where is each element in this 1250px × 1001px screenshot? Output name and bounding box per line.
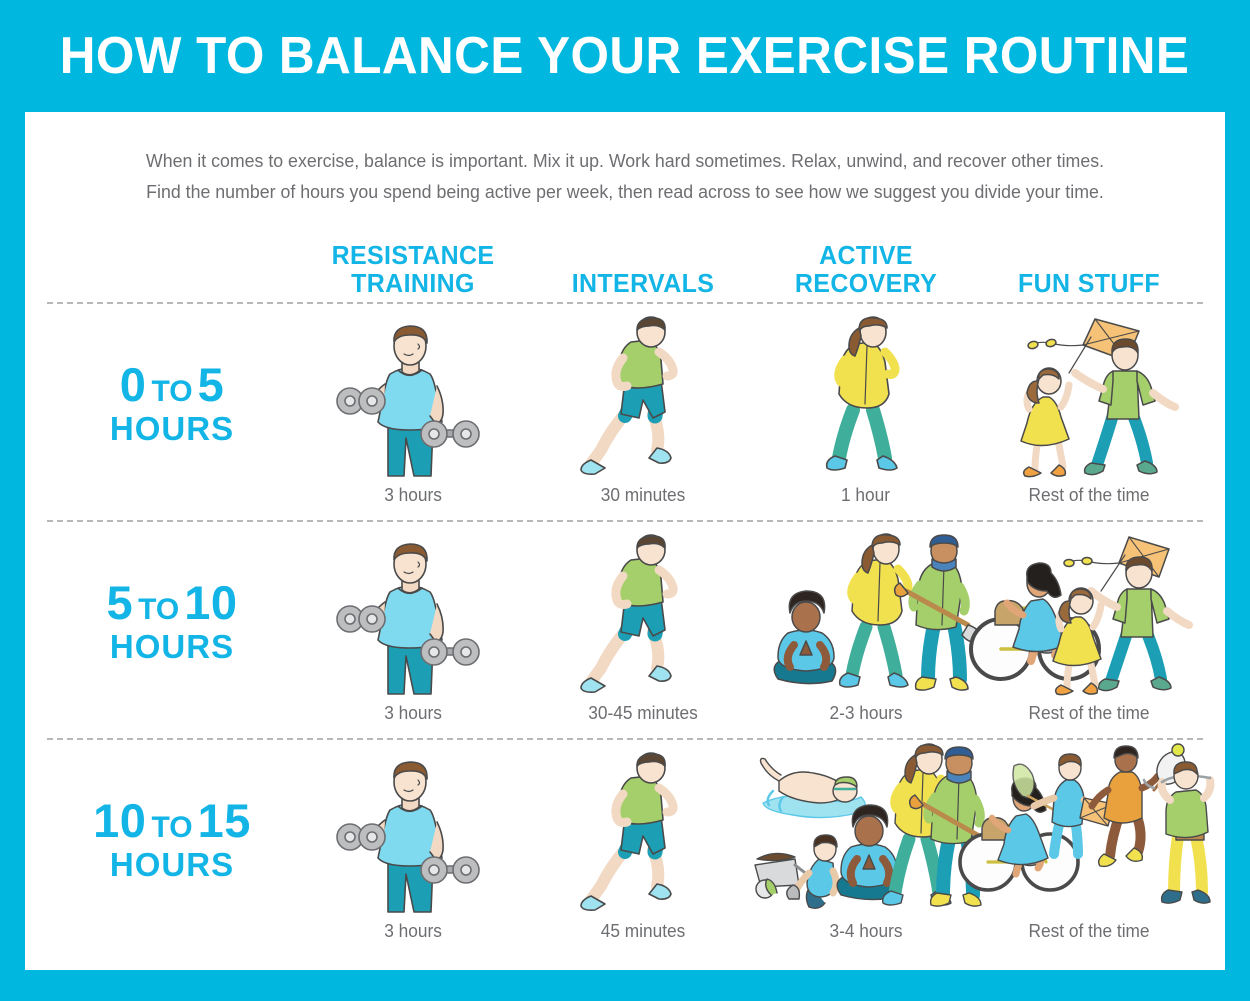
- range-start: 0: [120, 358, 147, 411]
- row-label-10-to-15-hours: 10to15 HOURS: [47, 740, 297, 956]
- intro-line-2: Find the number of hours you spend being…: [99, 177, 1151, 208]
- cell-caption: 3-4 hours: [829, 921, 902, 956]
- row-label-0-to-5-hours: 0to5 HOURS: [47, 304, 297, 520]
- row-label-range: 0to5: [120, 360, 224, 411]
- row-label-range: 10to15: [93, 796, 251, 847]
- routine-table: RESISTANCE TRAINING INTERVALS ACTIVE REC…: [47, 230, 1203, 956]
- column-header-line-1: ACTIVE: [761, 242, 970, 270]
- cell-fun-stuff-row-2: Rest of the time: [975, 522, 1203, 738]
- cell-caption: 45 minutes: [601, 921, 686, 956]
- cell-caption: 30-45 minutes: [588, 703, 698, 738]
- cell-resistance-row-2: 3 hours: [297, 522, 529, 738]
- range-end: 10: [184, 576, 237, 629]
- illustration-runner: [529, 740, 757, 921]
- illustration-cycling-kite-net-tennis-golf: [975, 740, 1203, 921]
- illustration-man-dumbbell-curls: [297, 304, 529, 485]
- illustration-cycling-kite-flying: [975, 522, 1203, 703]
- table-row: 10to15 HOURS: [47, 740, 1203, 956]
- column-header-line-1: RESISTANCE: [302, 242, 525, 270]
- illustration-swimming-gardening-meditation-walking-shoveling: [757, 740, 975, 921]
- range-end: 15: [198, 794, 251, 847]
- cell-caption: 3 hours: [384, 703, 442, 738]
- cell-active-recovery-row-2: 2-3 hours: [757, 522, 975, 738]
- range-joiner: to: [133, 593, 184, 626]
- cell-fun-stuff-row-1: Rest of the time: [975, 304, 1203, 520]
- column-header-line-2: TRAINING: [302, 270, 525, 298]
- row-label-unit: HOURS: [110, 410, 234, 448]
- cell-caption: 30 minutes: [601, 485, 686, 520]
- illustration-kite-flying-man-and-girl: [975, 304, 1203, 485]
- illustration-man-dumbbell-curls: [297, 740, 529, 921]
- column-header-intervals: INTERVALS: [534, 270, 753, 298]
- cell-caption: 1 hour: [841, 485, 890, 520]
- cell-caption: Rest of the time: [1028, 703, 1149, 738]
- intro-line-1: When it comes to exercise, balance is im…: [99, 146, 1151, 177]
- range-start: 10: [93, 794, 146, 847]
- cell-intervals-row-1: 30 minutes: [529, 304, 757, 520]
- cell-caption: 3 hours: [384, 485, 442, 520]
- column-header-active-recovery: ACTIVE RECOVERY: [761, 242, 970, 298]
- infographic-poster: HOW TO BALANCE YOUR EXERCISE ROUTINE Whe…: [0, 0, 1250, 1001]
- cell-intervals-row-2: 30-45 minutes: [529, 522, 757, 738]
- column-header-resistance-training: RESISTANCE TRAINING: [302, 242, 525, 298]
- cell-caption: Rest of the time: [1028, 485, 1149, 520]
- column-header-line-1: INTERVALS: [534, 270, 753, 298]
- row-label-unit: HOURS: [110, 846, 234, 884]
- illustration-woman-walking: [757, 304, 975, 485]
- content-card: When it comes to exercise, balance is im…: [25, 112, 1225, 970]
- cell-intervals-row-3: 45 minutes: [529, 740, 757, 956]
- illustration-man-dumbbell-curls: [297, 522, 529, 703]
- column-header-fun-stuff: FUN STUFF: [980, 270, 1199, 298]
- cell-active-recovery-row-1: 1 hour: [757, 304, 975, 520]
- cell-caption: 3 hours: [384, 921, 442, 956]
- cell-fun-stuff-row-3: Rest of the time: [975, 740, 1203, 956]
- page-title: HOW TO BALANCE YOUR EXERCISE ROUTINE: [60, 26, 1190, 86]
- title-bar: HOW TO BALANCE YOUR EXERCISE ROUTINE: [0, 0, 1250, 112]
- table-row: 0to5 HOURS: [47, 304, 1203, 520]
- cell-resistance-row-1: 3 hours: [297, 304, 529, 520]
- illustration-meditation-walking-shoveling: [757, 522, 975, 703]
- cell-caption: 2-3 hours: [829, 703, 902, 738]
- row-label-5-to-10-hours: 5to10 HOURS: [47, 522, 297, 738]
- range-joiner: to: [146, 375, 197, 408]
- cell-resistance-row-3: 3 hours: [297, 740, 529, 956]
- cell-active-recovery-row-3: 3-4 hours: [757, 740, 975, 956]
- range-end: 5: [198, 358, 225, 411]
- illustration-runner: [529, 304, 757, 485]
- range-joiner: to: [146, 811, 197, 844]
- illustration-runner: [529, 522, 757, 703]
- table-row: 5to10 HOURS: [47, 522, 1203, 738]
- table-header-row: RESISTANCE TRAINING INTERVALS ACTIVE REC…: [47, 230, 1203, 302]
- cell-caption: Rest of the time: [1028, 921, 1149, 956]
- row-label-range: 5to10: [106, 578, 237, 629]
- column-header-line-1: FUN STUFF: [980, 270, 1199, 298]
- column-header-line-2: RECOVERY: [761, 270, 970, 298]
- intro-paragraph: When it comes to exercise, balance is im…: [99, 146, 1151, 207]
- row-label-unit: HOURS: [110, 628, 234, 666]
- range-start: 5: [106, 576, 133, 629]
